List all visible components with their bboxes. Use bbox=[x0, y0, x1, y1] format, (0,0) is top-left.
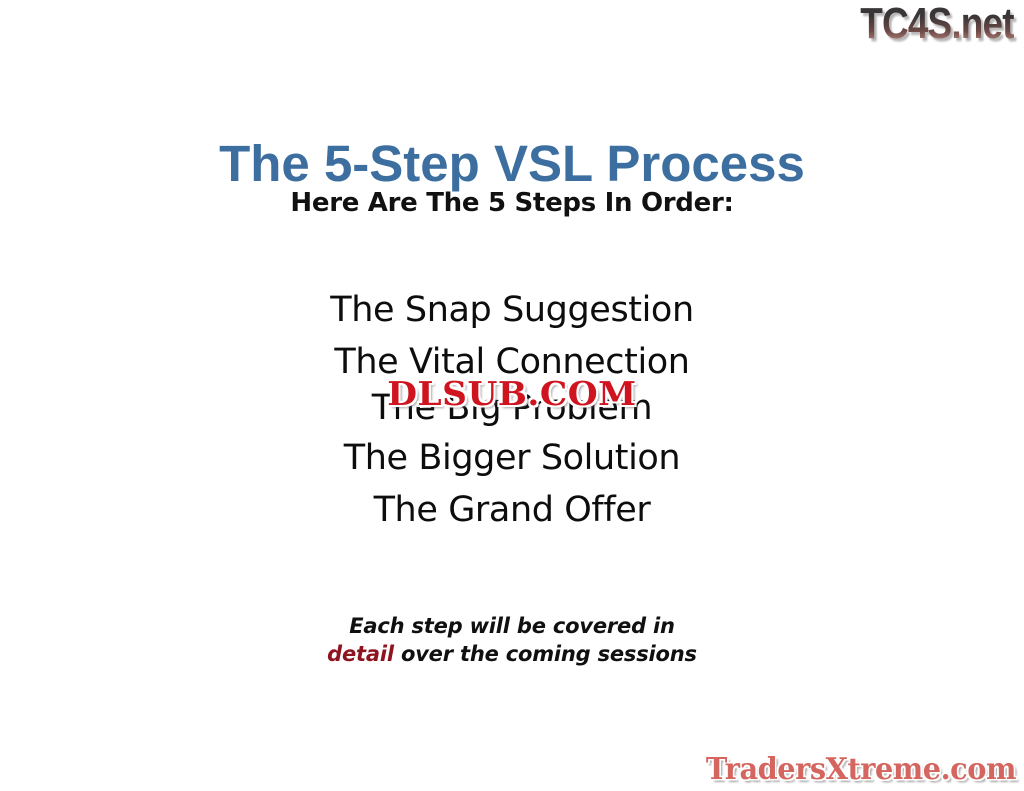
steps-list: The Snap Suggestion The Vital Connection… bbox=[0, 290, 1024, 530]
slide-subtitle: Here Are The 5 Steps In Order: bbox=[0, 188, 1024, 218]
page-title: The 5-Step VSL Process bbox=[0, 137, 1024, 191]
footnote-accent-word: detail bbox=[327, 642, 394, 666]
footnote-line-2: detail over the coming sessions bbox=[0, 641, 1024, 669]
list-item: The Grand Offer bbox=[0, 490, 1024, 530]
list-item: The Snap Suggestion bbox=[0, 290, 1024, 330]
list-item: The Vital Connection bbox=[0, 342, 1024, 382]
footnote-line-2-rest: over the coming sessions bbox=[394, 642, 697, 666]
tradersxtreme-watermark: TradersXtreme.com bbox=[706, 755, 1016, 785]
slide-canvas: TC4S.net The 5-Step VSL Process Here Are… bbox=[0, 0, 1024, 791]
list-item: The Bigger Solution bbox=[0, 438, 1024, 478]
footnote-line-1: Each step will be covered in bbox=[0, 613, 1024, 641]
list-item: The Big Problem bbox=[0, 388, 1024, 428]
footnote: Each step will be covered in detail over… bbox=[0, 613, 1024, 669]
tc4s-watermark: TC4S.net bbox=[861, 2, 1014, 46]
